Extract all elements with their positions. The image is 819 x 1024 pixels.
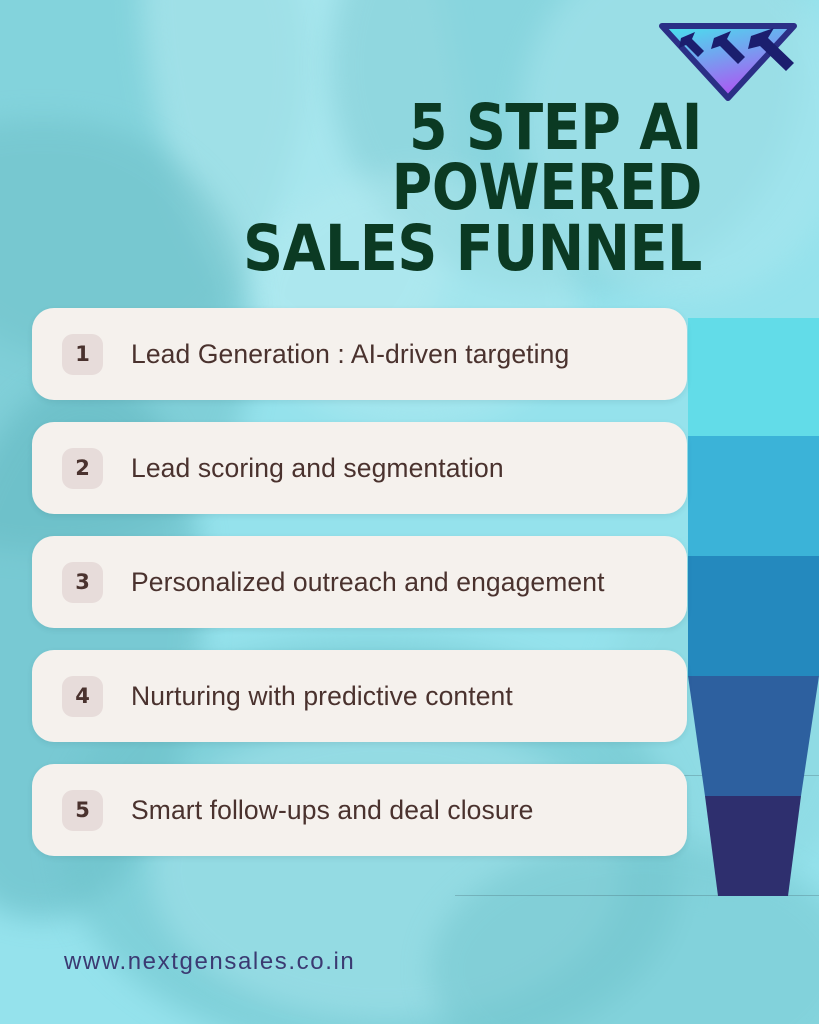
- website-url[interactable]: www.nextgensales.co.in: [64, 948, 355, 976]
- list-item[interactable]: 1 Lead Generation : AI-driven targeting: [32, 308, 687, 400]
- step-label: Personalized outreach and engagement: [131, 567, 605, 598]
- list-item[interactable]: 3 Personalized outreach and engagement: [32, 536, 687, 628]
- step-label: Nurturing with predictive content: [131, 681, 513, 712]
- steps-list: 1 Lead Generation : AI-driven targeting …: [32, 308, 687, 878]
- list-item[interactable]: 2 Lead scoring and segmentation: [32, 422, 687, 514]
- step-number-badge: 3: [62, 562, 103, 603]
- step-number-badge: 5: [62, 790, 103, 831]
- step-number-badge: 2: [62, 448, 103, 489]
- page-title: 5 STEP AI POWERED SALES FUNNEL: [98, 98, 819, 279]
- infographic-poster: 5 STEP AI POWERED SALES FUNNEL 1 Lead Ge…: [0, 0, 819, 1024]
- step-label: Smart follow-ups and deal closure: [131, 795, 533, 826]
- sales-funnel-graphic: [688, 318, 819, 896]
- list-item[interactable]: 5 Smart follow-ups and deal closure: [32, 764, 687, 856]
- list-item[interactable]: 4 Nurturing with predictive content: [32, 650, 687, 742]
- step-label: Lead Generation : AI-driven targeting: [131, 339, 569, 370]
- step-number-badge: 4: [62, 676, 103, 717]
- step-label: Lead scoring and segmentation: [131, 453, 504, 484]
- step-number-badge: 1: [62, 334, 103, 375]
